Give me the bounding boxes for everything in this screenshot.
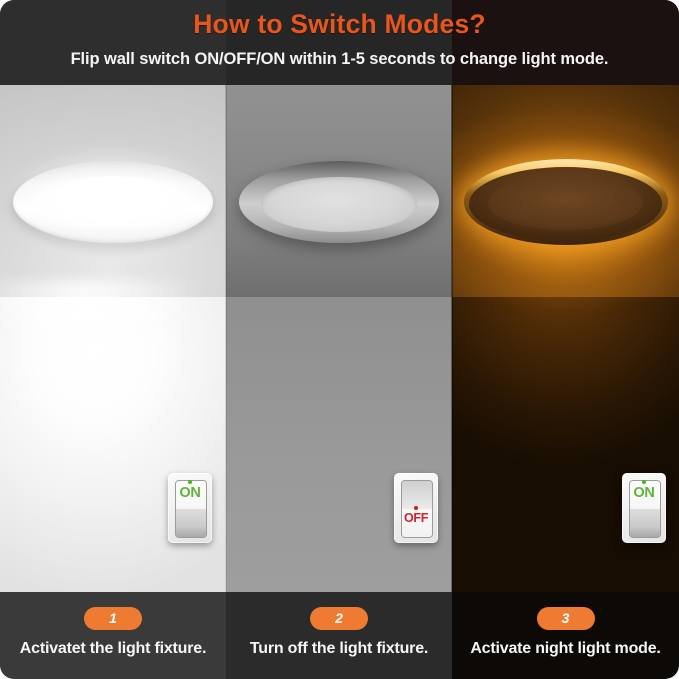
fixture-inner-panel — [488, 176, 643, 229]
how-to-switch-modes-infographic: How to Switch Modes? Flip wall switch ON… — [0, 0, 679, 679]
rocker-bottom-face — [176, 509, 206, 537]
rocker-top-face — [402, 481, 432, 509]
step-badge-1: 1 — [84, 607, 142, 630]
switch-label-on: ON — [168, 485, 212, 501]
rocker-bottom-face — [630, 509, 660, 537]
panel-step-3: ON — [452, 85, 679, 592]
ceiling-light-fixture-on — [13, 161, 213, 243]
light-spill-glow — [0, 281, 226, 401]
step-caption-3: Activate night light mode. — [452, 640, 679, 658]
wall-switch-plate-3[interactable]: ON — [622, 473, 666, 543]
wall-switch-plate-2[interactable]: OFF — [394, 473, 438, 543]
switch-label-on: ON — [622, 485, 666, 501]
wall-surface — [226, 297, 452, 592]
step-badge-3: 3 — [537, 607, 595, 630]
fixture-lens-unlit — [261, 177, 417, 231]
switch-label-off: OFF — [394, 511, 438, 525]
footer-cell-3: 3 Activate night light mode. — [452, 592, 679, 679]
page-title: How to Switch Modes? — [0, 9, 679, 40]
wall-switch-plate-1[interactable]: ON — [168, 473, 212, 543]
ceiling-light-fixture-off — [239, 161, 439, 243]
panel-step-1: ON — [0, 85, 226, 592]
switch-indicator-dot-green — [188, 480, 192, 484]
step-caption-1: Activatet the light fixture. — [0, 640, 226, 658]
footer-cell-2: 2 Turn off the light fixture. — [226, 592, 452, 679]
step-caption-2: Turn off the light fixture. — [226, 640, 452, 658]
step-badge-2: 2 — [310, 607, 368, 630]
footer-cell-1: 1 Activatet the light fixture. — [0, 592, 226, 679]
switch-indicator-dot-green — [642, 480, 646, 484]
switch-indicator-dot-red — [414, 506, 418, 510]
wall-surface — [452, 297, 679, 592]
fixture-lens-lit — [37, 176, 189, 228]
header-banner: How to Switch Modes? Flip wall switch ON… — [0, 0, 679, 85]
scene-strip: ON OFF — [0, 85, 679, 592]
footer-captions: 1 Activatet the light fixture. 2 Turn of… — [0, 592, 679, 679]
ceiling-light-fixture-night-mode — [464, 159, 668, 245]
page-subtitle: Flip wall switch ON/OFF/ON within 1-5 se… — [0, 50, 679, 69]
panel-step-2: OFF — [226, 85, 452, 592]
